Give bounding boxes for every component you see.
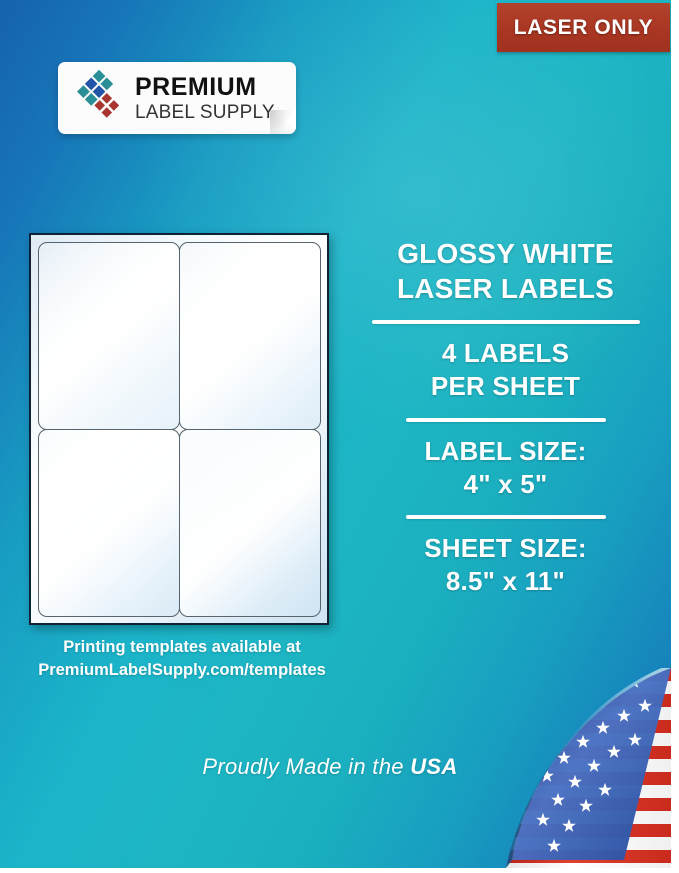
spec-divider bbox=[372, 320, 640, 324]
label-grid bbox=[38, 242, 320, 616]
brand-logo-plaque: PREMIUM LABEL SUPPLY bbox=[58, 62, 296, 134]
label-count-line1: 4 LABELS bbox=[353, 337, 658, 370]
brand-name-secondary: LABEL SUPPLY bbox=[135, 103, 275, 122]
brand-wordmark: PREMIUM LABEL SUPPLY bbox=[135, 75, 275, 122]
label-cell bbox=[179, 242, 321, 430]
usa-flag-peel-corner-icon bbox=[506, 668, 671, 868]
sheet-size-caption: SHEET SIZE: bbox=[353, 532, 658, 565]
brand-name-primary: PREMIUM bbox=[135, 75, 275, 100]
templates-note: Printing templates available at PremiumL… bbox=[12, 636, 352, 683]
label-cell bbox=[38, 429, 180, 617]
templates-note-line2: PremiumLabelSupply.com/templates bbox=[12, 659, 352, 682]
label-cell bbox=[38, 242, 180, 430]
tagline-prefix: Proudly Made in the bbox=[202, 754, 410, 779]
label-sheet-preview bbox=[29, 233, 329, 625]
laser-only-badge-label: LASER ONLY bbox=[514, 16, 653, 40]
laser-only-badge: LASER ONLY bbox=[497, 3, 670, 52]
bottom-white-edge bbox=[0, 868, 679, 873]
label-count-line2: PER SHEET bbox=[353, 370, 658, 403]
label-size-value: 4" x 5" bbox=[353, 468, 658, 501]
sheet-size-value: 8.5" x 11" bbox=[353, 565, 658, 598]
label-size-caption: LABEL SIZE: bbox=[353, 435, 658, 468]
label-sheet-page bbox=[29, 233, 329, 625]
product-package-image: LASER ONLY PREMIUM LA bbox=[0, 0, 679, 873]
right-white-edge bbox=[671, 0, 679, 873]
diamond-grid-logo-icon bbox=[70, 69, 128, 127]
spec-divider bbox=[406, 515, 606, 519]
tagline-emphasis: USA bbox=[410, 754, 457, 779]
templates-note-line1: Printing templates available at bbox=[12, 636, 352, 659]
spec-divider bbox=[406, 418, 606, 422]
product-title-line1: GLOSSY WHITE bbox=[353, 236, 658, 271]
label-cell bbox=[179, 429, 321, 617]
spec-column: GLOSSY WHITE LASER LABELS 4 LABELS PER S… bbox=[353, 236, 658, 599]
product-title-line2: LASER LABELS bbox=[353, 271, 658, 306]
